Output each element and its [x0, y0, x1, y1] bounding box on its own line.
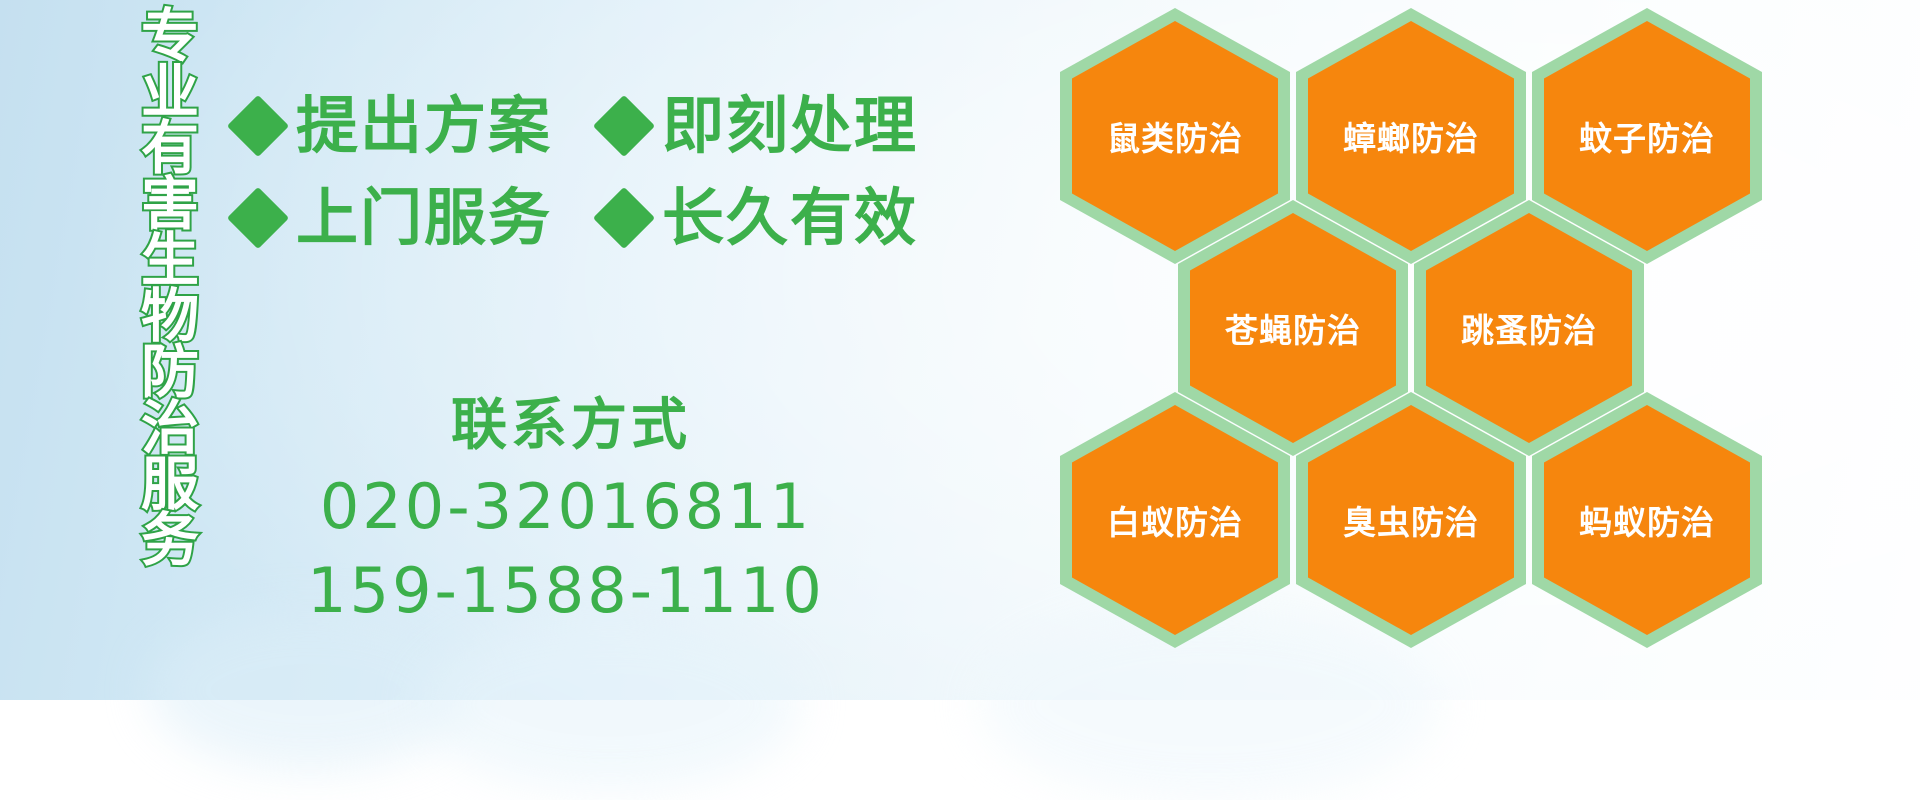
service-label: 蟑螂防治: [1343, 112, 1479, 160]
hex-inner: 跳蚤防治: [1426, 213, 1632, 443]
service-label: 鼠类防治: [1107, 112, 1243, 160]
background-blob: [420, 620, 800, 790]
pest-control-banner: 专 业 有 害 生 物 防 治 服 务 提出方案 即刻处理 上门服务 长久有效 …: [0, 0, 1920, 700]
hex-inner: 苍蝇防治: [1190, 213, 1396, 443]
contact-title: 联系方式: [246, 380, 896, 461]
feature-list: 提出方案 即刻处理 上门服务 长久有效: [236, 80, 876, 264]
feature-row: 提出方案 即刻处理: [236, 80, 876, 172]
contact-block: 联系方式 020-32016811 159-1588-1110: [236, 380, 896, 628]
feature-label: 上门服务: [296, 187, 552, 249]
hex-inner: 臭虫防治: [1308, 405, 1514, 635]
slogan-char: 生: [141, 232, 199, 288]
slogan-char: 务: [141, 512, 199, 568]
slogan-char: 服: [141, 456, 199, 512]
hex-inner: 鼠类防治: [1072, 21, 1278, 251]
slogan-char: 害: [141, 176, 199, 232]
diamond-icon: [227, 95, 289, 157]
service-label: 蚊子防治: [1579, 112, 1715, 160]
hex-inner: 白蚁防治: [1072, 405, 1278, 635]
slogan-char: 业: [141, 64, 199, 120]
phone-landline[interactable]: 020-32016811: [236, 469, 896, 545]
service-label: 臭虫防治: [1343, 496, 1479, 544]
diamond-icon: [593, 187, 655, 249]
feature-label: 提出方案: [296, 95, 552, 157]
phone-mobile[interactable]: 159-1588-1110: [236, 553, 896, 629]
feature-label: 长久有效: [662, 187, 918, 249]
slogan-char: 物: [141, 288, 199, 344]
hex-inner: 蚂蚁防治: [1544, 405, 1750, 635]
diamond-icon: [593, 95, 655, 157]
service-label: 苍蝇防治: [1225, 304, 1361, 352]
vertical-slogan: 专 业 有 害 生 物 防 治 服 务: [112, 8, 228, 568]
slogan-char: 防: [141, 344, 199, 400]
hex-inner: 蚊子防治: [1544, 21, 1750, 251]
diamond-icon: [227, 187, 289, 249]
slogan-char: 专: [141, 8, 199, 64]
slogan-char: 有: [141, 120, 199, 176]
slogan-char: 治: [141, 400, 199, 456]
hex-inner: 蟑螂防治: [1308, 21, 1514, 251]
service-hex-grid: 鼠类防治 蟑螂防治 蚊子防治 苍蝇防治 跳蚤防治 白蚁防治 臭虫防治 蚂蚁防治: [1060, 0, 1800, 700]
service-label: 蚂蚁防治: [1579, 496, 1715, 544]
service-label: 白蚁防治: [1107, 496, 1243, 544]
feature-label: 即刻处理: [662, 95, 918, 157]
feature-row: 上门服务 长久有效: [236, 172, 876, 264]
service-label: 跳蚤防治: [1461, 304, 1597, 352]
